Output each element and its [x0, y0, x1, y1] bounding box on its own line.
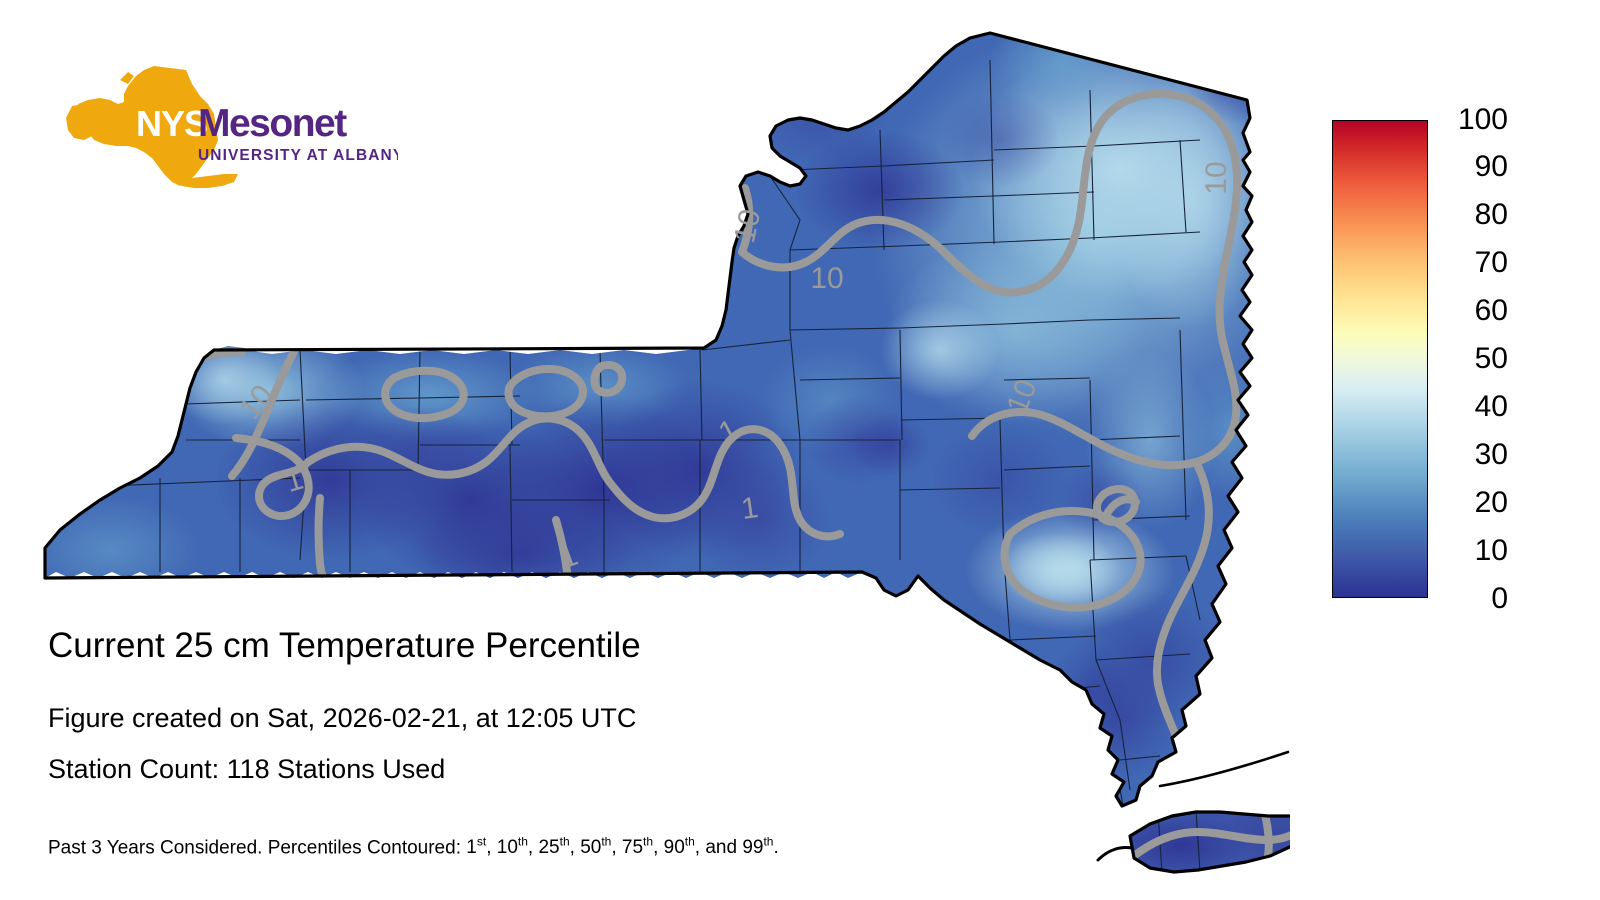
footnote-percentile-number: 50 — [580, 837, 601, 858]
footnote-ordinal-suffix: st — [477, 835, 486, 849]
footnote-ordinal-suffix: th — [518, 835, 528, 849]
page-title: Current 25 cm Temperature Percentile — [48, 625, 641, 667]
colorbar-tick-40: 40 — [1436, 391, 1508, 423]
footnote-separator: , — [486, 837, 497, 858]
footnote-ordinal-suffix: th — [601, 835, 611, 849]
connecticut-shoreline — [1160, 752, 1288, 786]
contour-levels-footnote: Past 3 Years Considered. Percentiles Con… — [48, 830, 779, 860]
colorbar-tick-100: 100 — [1436, 104, 1508, 136]
footnote-separator: , — [528, 837, 539, 858]
footnote-ordinal-suffix: th — [685, 835, 695, 849]
logo-mesonet-text: Mesonet — [198, 102, 347, 145]
long-island-fill-layer — [1100, 790, 1290, 900]
footnote-separator: , — [653, 837, 664, 858]
nys-mesonet-logo: NYS Mesonet UNIVERSITY AT ALBANY — [58, 62, 398, 192]
footnote-percentile-number: 99 — [742, 837, 763, 858]
footnote-percentile-number: 10 — [497, 837, 518, 858]
contour-label: 10 — [1200, 161, 1233, 194]
colorbar-tick-labels: 100 90 80 70 60 50 40 30 20 10 0 — [1436, 104, 1566, 616]
colorbar-tick-0: 0 — [1436, 583, 1508, 615]
colorbar-tick-20: 20 — [1436, 487, 1508, 519]
colorbar-tick-30: 30 — [1436, 439, 1508, 471]
footnote-percentile-number: 90 — [664, 837, 685, 858]
logo-subtitle-text: UNIVERSITY AT ALBANY — [198, 147, 398, 164]
logo-nys-text: NYS — [136, 103, 207, 144]
footnote-ordinal-suffix: th — [763, 835, 773, 849]
contour-label: 10 — [810, 262, 843, 295]
footnote-separator: , — [611, 837, 622, 858]
footnote-ordinal-list: 1st, 10th, 25th, 50th, 75th, 90th, and 9… — [466, 837, 779, 858]
footnote-separator: . — [773, 837, 778, 858]
colorbar-tick-10: 10 — [1436, 535, 1508, 567]
colorbar-tick-90: 90 — [1436, 151, 1508, 183]
station-count-label: Station Count: 118 Stations Used — [48, 753, 445, 785]
footnote-percentile-number: 75 — [622, 837, 643, 858]
figure-created-timestamp: Figure created on Sat, 2026-02-21, at 12… — [48, 702, 636, 734]
footnote-separator: , and — [695, 837, 743, 858]
footnote-ordinal-suffix: th — [643, 835, 653, 849]
footnote-ordinal-suffix: th — [560, 835, 570, 849]
percentile-colorbar — [1332, 120, 1428, 598]
staten-island-outline — [1098, 848, 1132, 861]
footnote-prefix: Past 3 Years Considered. Percentiles Con… — [48, 837, 466, 858]
footnote-percentile-number: 25 — [538, 837, 559, 858]
colorbar-tick-60: 60 — [1436, 295, 1508, 327]
colorbar-tick-70: 70 — [1436, 247, 1508, 279]
colorbar-container — [1332, 120, 1428, 598]
colorbar-tick-80: 80 — [1436, 199, 1508, 231]
contour-label: 10 — [728, 206, 767, 246]
footnote-percentile-number: 1 — [466, 837, 477, 858]
logo-svg: NYS Mesonet UNIVERSITY AT ALBANY — [58, 62, 398, 192]
colorbar-tick-50: 50 — [1436, 343, 1508, 375]
footnote-separator: , — [570, 837, 581, 858]
